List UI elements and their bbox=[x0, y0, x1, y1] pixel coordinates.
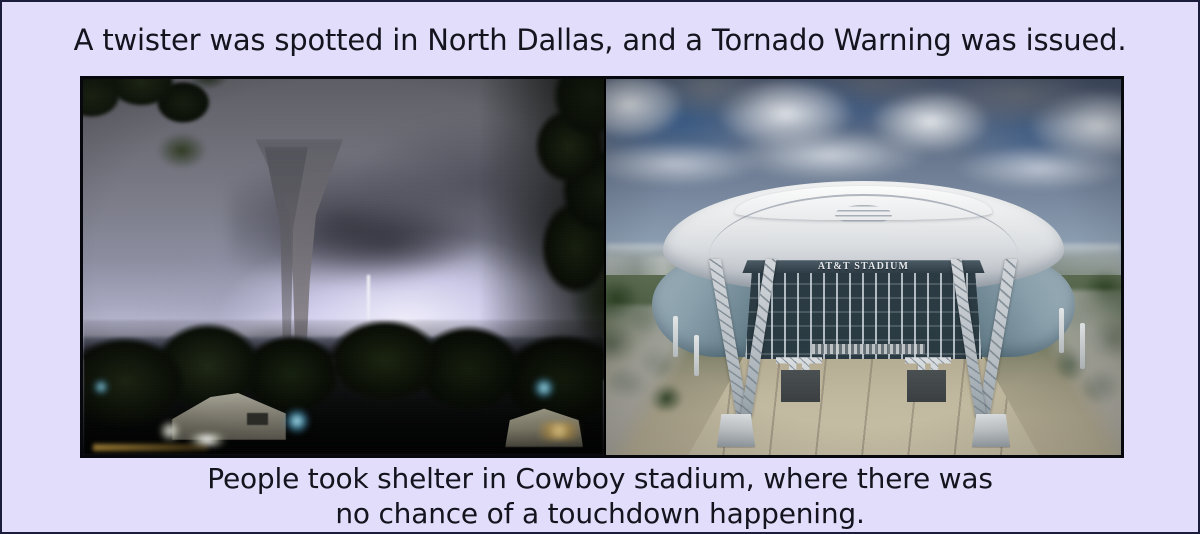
lit-window bbox=[532, 422, 586, 440]
tree-leaf-cluster bbox=[146, 124, 219, 177]
street-light-white bbox=[159, 420, 181, 442]
stadium-photo: AT&T STADIUM bbox=[606, 79, 1121, 455]
truss-base-left bbox=[717, 414, 756, 448]
light-pole-1 bbox=[673, 316, 678, 357]
stadium-entrance-doors bbox=[812, 344, 925, 354]
photo-strip: AT&T STADIUM bbox=[80, 76, 1124, 458]
caption-bottom-line-2: no chance of a touchdown happening. bbox=[2, 496, 1198, 531]
plaza-screen-left bbox=[781, 370, 820, 402]
light-pole-4 bbox=[1080, 323, 1085, 368]
tornado-photo bbox=[83, 79, 606, 455]
truss-base-right bbox=[972, 414, 1011, 448]
meme-image-frame: A twister was spotted in North Dallas, a… bbox=[0, 0, 1200, 534]
caption-top: A twister was spotted in North Dallas, a… bbox=[2, 24, 1198, 58]
street-light-blue-2 bbox=[533, 377, 555, 399]
att-globe-logo-icon bbox=[835, 205, 892, 224]
street-light-blue bbox=[284, 408, 310, 434]
caption-bottom-line-1: People took shelter in Cowboy stadium, w… bbox=[2, 461, 1198, 496]
house-window bbox=[247, 413, 268, 425]
lit-road-strip bbox=[93, 444, 208, 452]
caption-bottom: People took shelter in Cowboy stadium, w… bbox=[2, 461, 1198, 531]
plaza-screen-right bbox=[907, 370, 946, 402]
light-pole-3 bbox=[1059, 308, 1064, 353]
light-pole-2 bbox=[694, 335, 699, 376]
